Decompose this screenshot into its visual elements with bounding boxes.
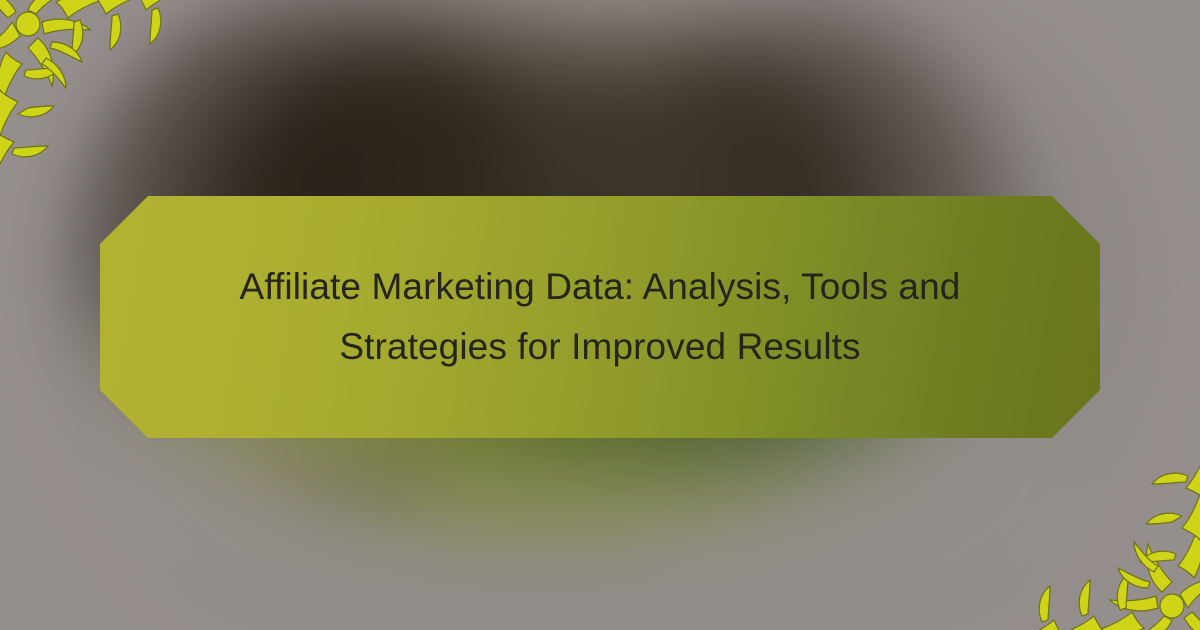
page-title: Affiliate Marketing Data: Analysis, Tool…	[100, 257, 1100, 377]
share-card-canvas: Affiliate Marketing Data: Analysis, Tool…	[0, 0, 1200, 630]
title-banner: Affiliate Marketing Data: Analysis, Tool…	[100, 196, 1100, 438]
